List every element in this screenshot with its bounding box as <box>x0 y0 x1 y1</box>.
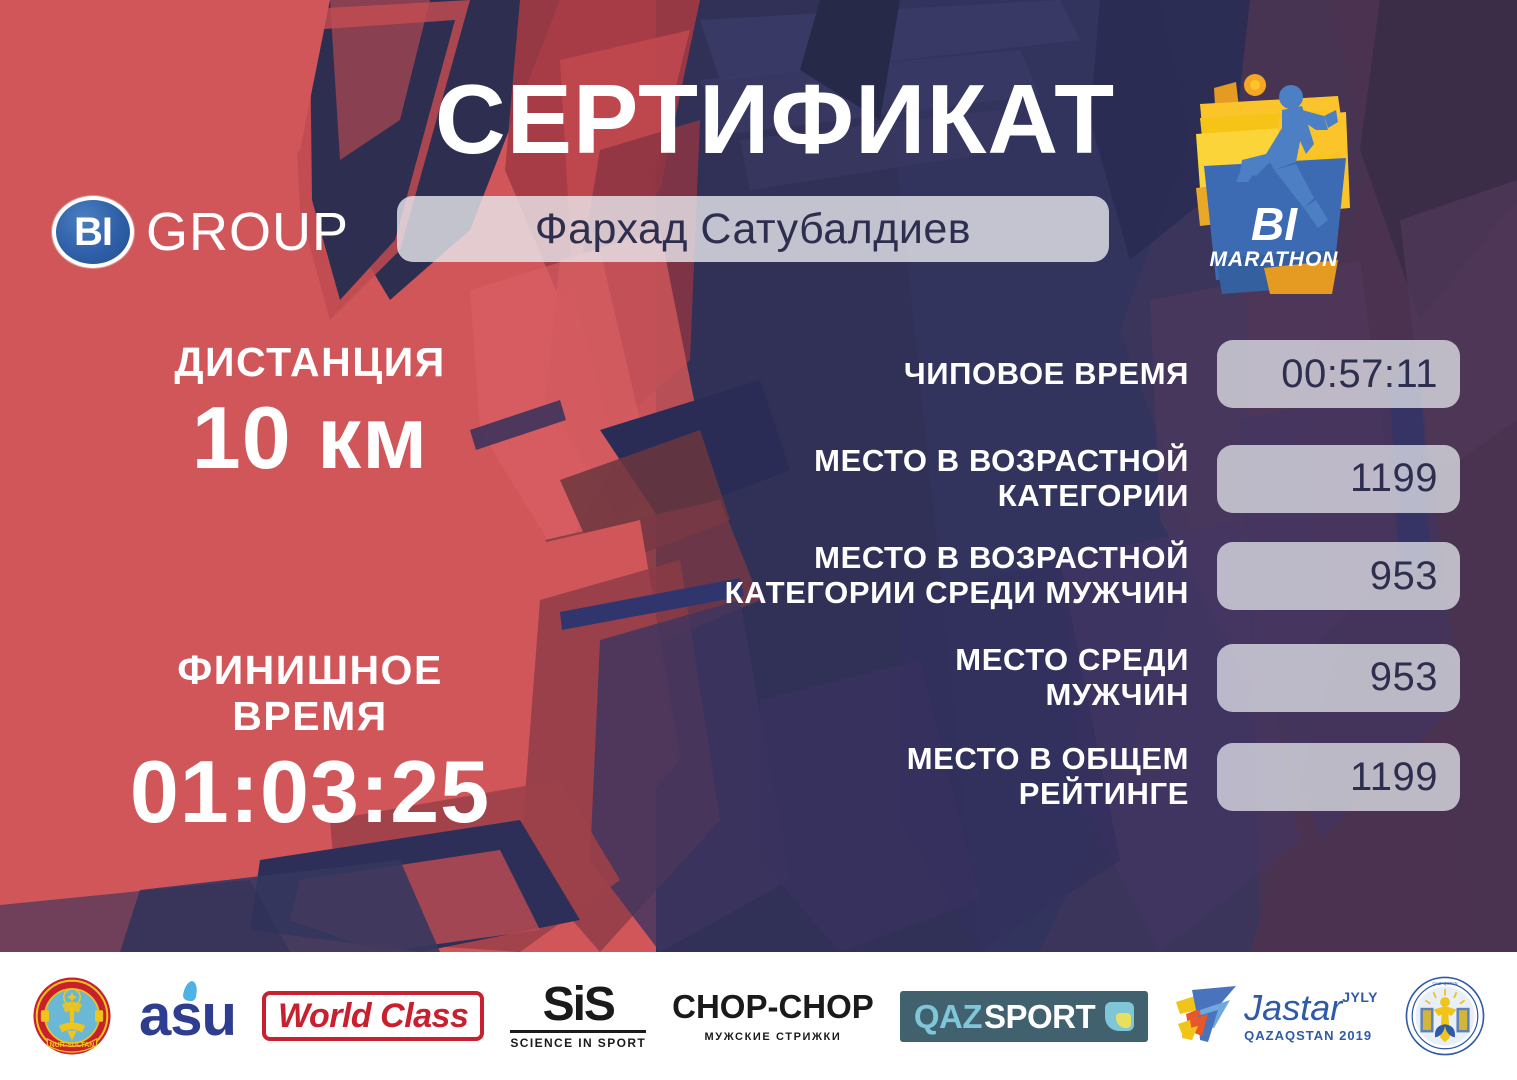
stat-row-overall-place: МЕСТО В ОБЩЕМ РЕЙТИНГЕ 1199 <box>600 742 1460 811</box>
stats-list: ЧИПОВОЕ ВРЕМЯ 00:57:11 МЕСТО В ВОЗРАСТНО… <box>600 340 1460 834</box>
qazsport-wordmark-qaz: QAZ <box>914 1000 982 1033</box>
stat-value-chip-time: 00:57:11 <box>1281 352 1438 397</box>
svg-text:NUR-SULTAN: NUR-SULTAN <box>50 1042 95 1049</box>
finish-time-block: ФИНИШНОЕ ВРЕМЯ 01:03:25 <box>60 648 560 838</box>
distance-value: 10 км <box>60 392 560 484</box>
jastar-wordmark: Jastar <box>1244 990 1342 1026</box>
stat-row-chip-time: ЧИПОВОЕ ВРЕМЯ 00:57:11 <box>600 340 1460 408</box>
stat-label-line1: МЕСТО В ВОЗРАСТНОЙ <box>600 444 1189 479</box>
stat-label-age-category-men-place: МЕСТО В ВОЗРАСТНОЙ КАТЕГОРИИ СРЕДИ МУЖЧИ… <box>600 541 1217 610</box>
participant-name-field: Фархад Сатубалдиев <box>397 196 1109 262</box>
page-title: СЕРТИФИКАТ <box>395 68 1155 171</box>
stat-label-line1: МЕСТО СРЕДИ <box>600 643 1189 678</box>
distance-block: ДИСТАНЦИЯ 10 км <box>60 340 560 484</box>
finish-time-label-line1: ФИНИШНОЕ <box>60 648 560 694</box>
sponsor-nur-sultan-emblem: NUR-SULTAN <box>31 975 113 1057</box>
sponsor-ministry-emblem: QAZAQSTAN <box>1404 975 1486 1057</box>
stat-label-line2: МУЖЧИН <box>600 678 1189 713</box>
bi-badge-text: BI <box>74 212 112 252</box>
jastar-subtitle: QAZAQSTAN 2019 <box>1244 1029 1378 1042</box>
sponsor-bar: NUR-SULTAN asu World Class SiS SCIENCE I… <box>0 952 1517 1080</box>
sponsor-qazsport: QAZ SPORT <box>900 991 1148 1042</box>
finish-time-label-line2: ВРЕМЯ <box>60 694 560 740</box>
bi-marathon-logo-icon: BI MARATHON <box>1178 58 1378 294</box>
stat-label-line2: РЕЙТИНГЕ <box>600 777 1189 812</box>
stat-pill-age-category-place: 1199 <box>1217 445 1460 513</box>
participant-name: Фархад Сатубалдиев <box>535 205 971 254</box>
bi-group-wordmark: GROUP <box>146 205 349 259</box>
stat-label-line1: МЕСТО В ОБЩЕМ <box>600 742 1189 777</box>
sis-tagline: SCIENCE IN SPORT <box>510 1030 646 1050</box>
marathon-logo-line2: MARATHON <box>1210 248 1339 271</box>
sponsor-sis: SiS SCIENCE IN SPORT <box>510 982 646 1050</box>
sponsor-chop-chop: CHOP-CHOP МУЖСКИЕ СТРИЖКИ <box>672 990 874 1043</box>
stat-pill-chip-time: 00:57:11 <box>1217 340 1460 408</box>
finish-time-value: 01:03:25 <box>60 746 560 838</box>
stat-label-line2: КАТЕГОРИИ <box>600 479 1189 514</box>
stat-label-line1: ЧИПОВОЕ ВРЕМЯ <box>600 357 1189 392</box>
stat-label-line2: КАТЕГОРИИ СРЕДИ МУЖЧИН <box>600 576 1189 611</box>
chop-chop-wordmark: CHOP-CHOP <box>672 990 874 1023</box>
stat-pill-overall-place: 1199 <box>1217 743 1460 811</box>
stat-label-age-category-place: МЕСТО В ВОЗРАСТНОЙ КАТЕГОРИИ <box>600 444 1217 513</box>
sponsor-world-class: World Class <box>262 991 484 1041</box>
stat-row-age-category-place: МЕСТО В ВОЗРАСТНОЙ КАТЕГОРИИ 1199 <box>600 444 1460 513</box>
bi-badge-icon: BI <box>52 196 134 268</box>
ministry-emblem-icon: QAZAQSTAN <box>1404 975 1486 1057</box>
stat-value-age-category-place: 1199 <box>1350 456 1438 501</box>
stat-label-chip-time: ЧИПОВОЕ ВРЕМЯ <box>600 357 1217 392</box>
stat-value-age-category-men-place: 953 <box>1370 554 1438 599</box>
svg-text:QAZAQSTAN: QAZAQSTAN <box>1432 981 1457 986</box>
sis-wordmark: SiS <box>510 982 646 1028</box>
stat-label-overall-place: МЕСТО В ОБЩЕМ РЕЙТИНГЕ <box>600 742 1217 811</box>
certificate-canvas: СЕРТИФИКАТ Фархад Сатубалдиев BI GROUP <box>0 0 1517 1080</box>
qazsport-wordmark-sport: SPORT <box>984 1000 1095 1033</box>
jastar-suffix: JYLY <box>1342 990 1378 1004</box>
stat-row-age-category-men-place: МЕСТО В ВОЗРАСТНОЙ КАТЕГОРИИ СРЕДИ МУЖЧИ… <box>600 541 1460 610</box>
sponsor-asu: asu <box>139 987 236 1045</box>
world-class-wordmark: World Class <box>278 997 468 1035</box>
stat-label-men-place: МЕСТО СРЕДИ МУЖЧИН <box>600 643 1217 712</box>
distance-label: ДИСТАНЦИЯ <box>60 340 560 386</box>
bi-group-logo: BI GROUP <box>52 196 349 268</box>
marathon-logo-line1: BI <box>1251 198 1298 250</box>
sponsor-jastar: Jastar JYLY QAZAQSTAN 2019 <box>1174 984 1378 1048</box>
stat-value-men-place: 953 <box>1370 655 1438 700</box>
qazsport-leaf-icon <box>1105 1002 1134 1031</box>
jastar-bird-icon <box>1174 984 1238 1048</box>
stat-label-line1: МЕСТО В ВОЗРАСТНОЙ <box>600 541 1189 576</box>
stat-value-overall-place: 1199 <box>1350 755 1438 800</box>
stat-pill-age-category-men-place: 953 <box>1217 542 1460 610</box>
stat-pill-men-place: 953 <box>1217 644 1460 712</box>
bi-marathon-logo: BI MARATHON <box>1178 58 1378 294</box>
chop-chop-tagline: МУЖСКИЕ СТРИЖКИ <box>672 1031 874 1043</box>
nur-sultan-emblem-icon: NUR-SULTAN <box>31 975 113 1057</box>
stat-row-men-place: МЕСТО СРЕДИ МУЖЧИН 953 <box>600 643 1460 712</box>
